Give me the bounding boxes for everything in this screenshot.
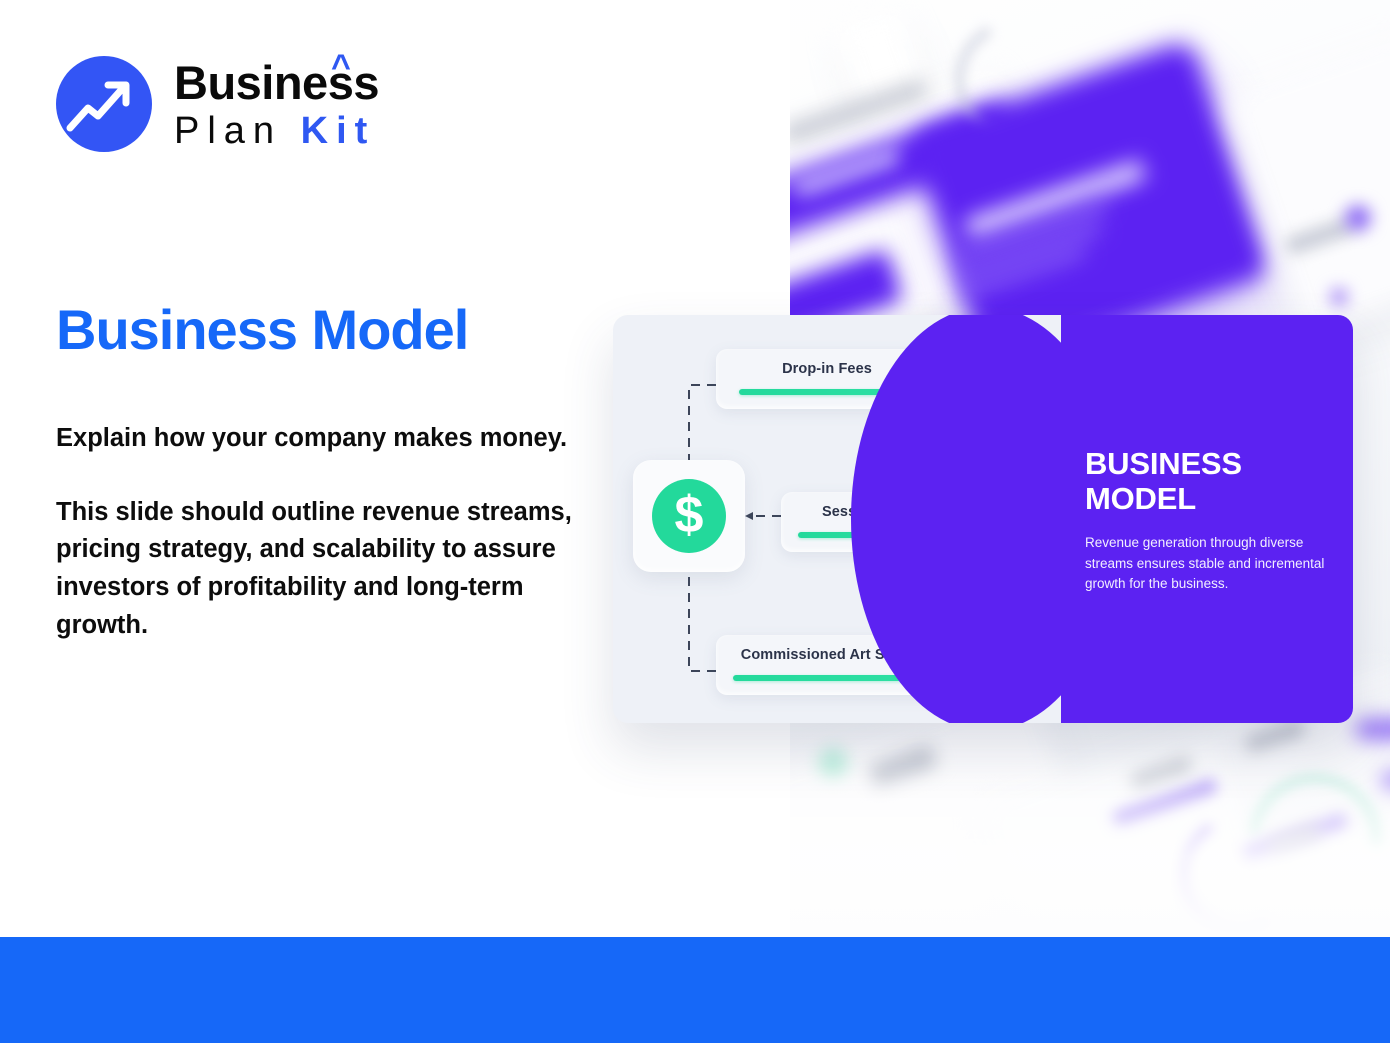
dollar-sign-icon: $ (652, 479, 726, 553)
body-paragraph-1: Explain how your company makes money. (56, 420, 576, 458)
brand-name-plan: Plan (174, 110, 301, 152)
page-title: Business Model (56, 297, 468, 362)
revenue-hub-tile: $ (633, 460, 745, 572)
revenue-node-label: Drop-in Fees (782, 361, 872, 377)
circumflex-accent-icon: ^ (331, 50, 350, 84)
purple-panel-subtitle: Revenue generation through diverse strea… (1085, 533, 1329, 595)
footer-bar (0, 937, 1390, 1043)
brand-name-line-2: Plan Kit (174, 112, 379, 150)
brand-logo[interactable]: Business ^ Plan Kit (56, 56, 379, 152)
purple-panel-content: BUSINESS MODEL Revenue generation throug… (1061, 315, 1353, 723)
brand-name-line-1: Business ^ (174, 59, 379, 106)
page-body-copy: Explain how your company makes money. Th… (56, 420, 576, 645)
body-paragraph-2: This slide should outline revenue stream… (56, 494, 576, 645)
purple-panel-title: BUSINESS MODEL (1085, 447, 1329, 516)
brand-wordmark: Business ^ Plan Kit (174, 59, 379, 150)
trending-up-circle-icon (56, 56, 152, 152)
bg-dot-purple-1 (1345, 205, 1371, 231)
background-bottom-fade (790, 707, 1390, 937)
slide-preview-card[interactable]: Drop-in Fees Session Workshops Commissio… (613, 315, 1353, 723)
revenue-node-progress-bar (733, 675, 921, 681)
brand-name-kit: Kit (301, 110, 376, 152)
bg-dot-purple-2 (1330, 288, 1348, 306)
arrowhead-right (745, 512, 753, 520)
